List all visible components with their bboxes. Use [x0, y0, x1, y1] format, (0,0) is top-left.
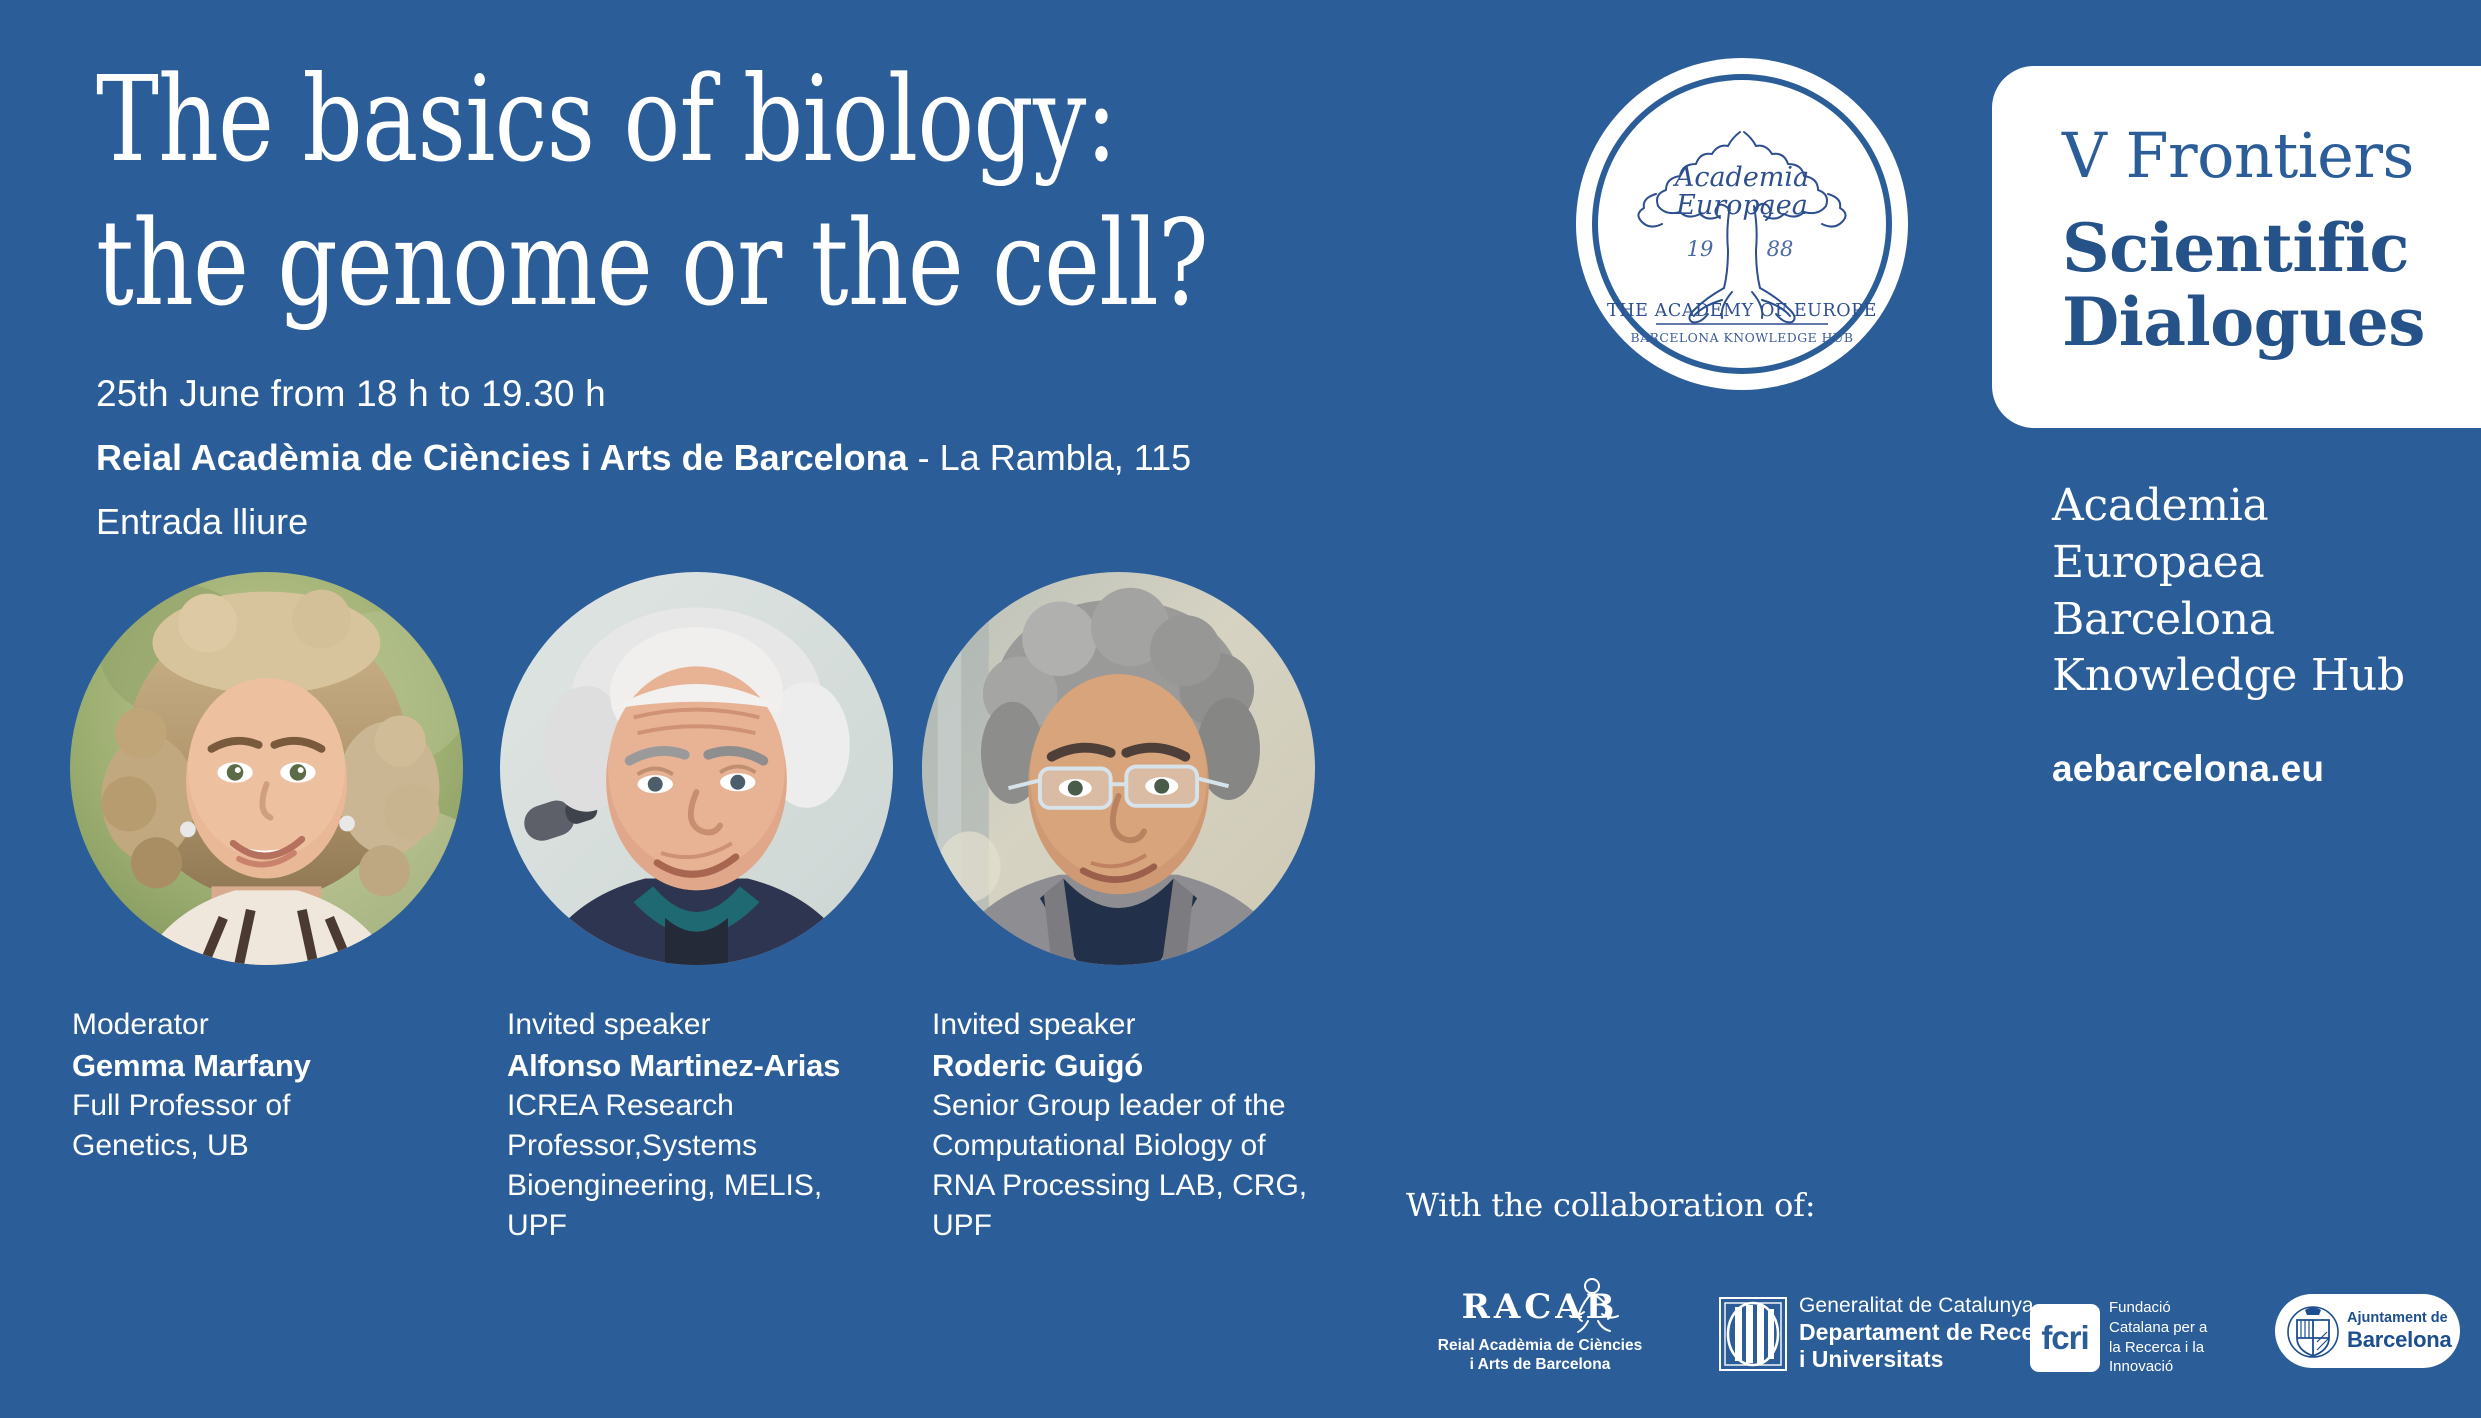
- speaker-affiliation: Senior Group leader of the Computational…: [932, 1086, 1322, 1246]
- ajuntament-line-2: Barcelona: [2347, 1327, 2452, 1353]
- fcri-line-3: la Recerca i la: [2109, 1338, 2207, 1358]
- event-details: 25th June from 18 h to 19.30 h Reial Aca…: [96, 366, 1396, 550]
- series-card: V Frontiers Scientific Dialogues: [1992, 66, 2481, 428]
- speaker-caption-3: Invited speaker Roderic Guigó Senior Gro…: [932, 1005, 1322, 1246]
- portrait-roderic-guigo: [922, 572, 1315, 965]
- card-series-line-2: Dialogues: [2062, 286, 2481, 360]
- organiser-line-1: Academia: [2052, 478, 2472, 535]
- logo-racab: RACAB Reial Acadèmia de Ciències i Arts …: [1430, 1290, 1650, 1375]
- poster-canvas: The basics of biology: the genome or the…: [0, 0, 2481, 1418]
- speaker-affiliation: Full Professor of Genetics, UB: [72, 1086, 372, 1166]
- logo-fcri: fcri Fundació Catalana per a la Recerca …: [2030, 1298, 2207, 1377]
- speaker-affiliation: ICREA Research Professor,Systems Bioengi…: [507, 1086, 852, 1246]
- racab-subtitle: Reial Acadèmia de Ciències i Arts de Bar…: [1430, 1336, 1650, 1375]
- academia-europaea-emblem-icon: Academia Europaea 19 88 THE ACADEMY OF E…: [1572, 54, 1912, 394]
- organiser-line-2: Europaea: [2052, 535, 2472, 592]
- speaker-role: Invited speaker: [932, 1005, 1322, 1045]
- card-edition: V Frontiers: [2062, 124, 2481, 188]
- ajuntament-text: Ajuntament de Barcelona: [2347, 1310, 2452, 1352]
- fcri-line-2: Catalana per a: [2109, 1318, 2207, 1338]
- organiser-name: Academia Europaea Barcelona Knowledge Hu…: [2052, 478, 2472, 705]
- title-line-2: the genome or the cell?: [96, 192, 1216, 336]
- title-line-1: The basics of biology:: [96, 50, 1117, 188]
- event-venue: Reial Acadèmia de Ciències i Arts de Bar…: [96, 431, 1396, 486]
- collaborator-logos: RACAB Reial Acadèmia de Ciències i Arts …: [1430, 1290, 2460, 1400]
- website-link[interactable]: aebarcelona.eu: [2052, 748, 2324, 790]
- event-date: 25th June from 18 h to 19.30 h: [96, 366, 1396, 422]
- emblem-name-line2: Europaea: [1675, 190, 1808, 221]
- generalitat-line-3: i Universitats: [1799, 1346, 2069, 1373]
- barcelona-crest-icon: [2287, 1302, 2339, 1360]
- racab-subtitle-line-2: i Arts de Barcelona: [1430, 1355, 1650, 1374]
- emblem-year-right: 88: [1767, 237, 1794, 261]
- logo-ajuntament-de-barcelona: Ajuntament de Barcelona: [2275, 1294, 2460, 1368]
- portrait-gemma-marfany: [70, 572, 463, 965]
- emblem-subtagline: BARCELONA KNOWLEDGE HUB: [1631, 330, 1854, 345]
- generalitat-shield-icon: [1719, 1297, 1787, 1371]
- organiser-line-3: Barcelona: [2052, 592, 2472, 649]
- organiser-line-4: Knowledge Hub: [2052, 648, 2472, 705]
- fcri-text: Fundació Catalana per a la Recerca i la …: [2109, 1298, 2207, 1377]
- fcri-wordmark: fcri: [2030, 1304, 2100, 1372]
- speaker-role: Moderator: [72, 1005, 372, 1045]
- racab-subtitle-line-1: Reial Acadèmia de Ciències: [1430, 1336, 1650, 1355]
- emblem-tagline: THE ACADEMY OF EUROPE: [1607, 301, 1877, 321]
- collaboration-label: With the collaboration of:: [1406, 1186, 1815, 1224]
- ajuntament-line-1: Ajuntament de: [2347, 1310, 2452, 1327]
- emblem-year-left: 19: [1687, 237, 1714, 261]
- portrait-alfonso-martinez-arias: [500, 572, 893, 965]
- venue-address: - La Rambla, 115: [908, 437, 1191, 478]
- event-admission: Entrada lliure: [96, 495, 1396, 550]
- logo-generalitat-de-catalunya: Generalitat de Catalunya Departament de …: [1719, 1294, 2069, 1373]
- racab-figure-icon: [1562, 1276, 1624, 1334]
- fcri-line-1: Fundació: [2109, 1298, 2207, 1318]
- card-series-line-1: Scientific: [2062, 212, 2481, 286]
- generalitat-text: Generalitat de Catalunya Departament de …: [1799, 1294, 2069, 1373]
- venue-name: Reial Acadèmia de Ciències i Arts de Bar…: [96, 437, 908, 478]
- generalitat-line-2: Departament de Recerca: [1799, 1319, 2069, 1346]
- speaker-caption-2: Invited speaker Alfonso Martinez-Arias I…: [507, 1005, 852, 1246]
- page-title: The basics of biology: the genome or the…: [96, 48, 1216, 336]
- emblem-name-line1: Academia: [1672, 162, 1809, 193]
- speaker-name: Alfonso Martinez-Arias: [507, 1045, 852, 1086]
- speaker-name: Roderic Guigó: [932, 1045, 1322, 1086]
- fcri-line-4: Innovació: [2109, 1357, 2207, 1377]
- speaker-name: Gemma Marfany: [72, 1045, 372, 1086]
- speaker-role: Invited speaker: [507, 1005, 852, 1045]
- speaker-caption-1: Moderator Gemma Marfany Full Professor o…: [72, 1005, 372, 1166]
- generalitat-line-1: Generalitat de Catalunya: [1799, 1294, 2069, 1319]
